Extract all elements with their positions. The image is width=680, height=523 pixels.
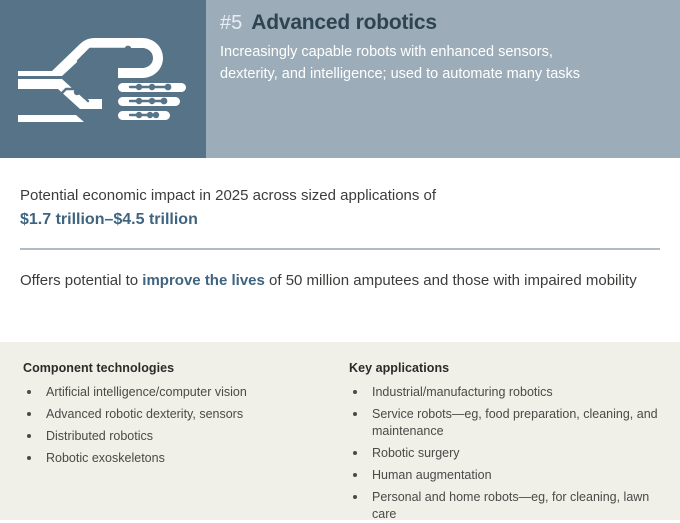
list-item: Artificial intelligence/computer vision	[23, 384, 332, 401]
key-applications-column: Key applications Industrial/manufacturin…	[340, 342, 680, 520]
bullet-icon	[353, 495, 357, 499]
list-item-label: Advanced robotic dexterity, sensors	[46, 407, 243, 421]
header-text-block: #5 Advanced robotics Increasingly capabl…	[206, 0, 680, 158]
list-item: Robotic surgery	[349, 445, 662, 462]
list-item: Advanced robotic dexterity, sensors	[23, 406, 332, 423]
rank-number: #5	[220, 12, 242, 35]
bullet-icon	[27, 412, 31, 416]
bullet-icon	[353, 451, 357, 455]
header-description: Increasingly capable robots with enhance…	[220, 42, 580, 85]
component-technologies-heading: Component technologies	[23, 361, 332, 375]
card-header: #5 Advanced robotics Increasingly capabl…	[0, 0, 680, 158]
impact-value-text: $1.7 trillion–$4.5 trillion	[20, 209, 198, 231]
list-item-label: Robotic exoskeletons	[46, 451, 165, 465]
list-item: Human augmentation	[349, 467, 662, 484]
list-item-label: Distributed robotics	[46, 429, 153, 443]
benefit-highlight: improve the lives	[142, 272, 265, 289]
list-item: Industrial/manufacturing robotics	[349, 384, 662, 401]
robotic-hand-circuit-icon	[18, 31, 188, 127]
bullet-icon	[27, 456, 31, 460]
benefit-suffix: of 50 million amputees and those with im…	[265, 272, 637, 289]
icon-panel	[0, 0, 206, 158]
list-item-label: Service robots—eg, food preparation, cle…	[372, 407, 658, 438]
benefit-prefix: Offers potential to	[20, 272, 142, 289]
bullet-icon	[353, 390, 357, 394]
bullet-icon	[27, 390, 31, 394]
title-row: #5 Advanced robotics	[220, 11, 660, 35]
section-divider	[20, 248, 660, 250]
page-title: Advanced robotics	[251, 11, 437, 35]
list-item: Personal and home robots—eg, for cleanin…	[349, 489, 662, 523]
list-item: Robotic exoskeletons	[23, 450, 332, 467]
list-item-label: Artificial intelligence/computer vision	[46, 385, 247, 399]
list-item: Distributed robotics	[23, 428, 332, 445]
bullet-icon	[353, 412, 357, 416]
technology-profile-card: #5 Advanced robotics Increasingly capabl…	[0, 0, 680, 520]
key-applications-heading: Key applications	[349, 361, 662, 375]
benefit-statement: Offers potential to improve the lives of…	[20, 269, 666, 292]
list-item-label: Robotic surgery	[372, 446, 460, 460]
impact-lead-text: Potential economic impact in 2025 across…	[20, 185, 436, 207]
list-item: Service robots—eg, food preparation, cle…	[349, 406, 662, 440]
bullet-icon	[353, 473, 357, 477]
economic-impact-section: Potential economic impact in 2025 across…	[0, 158, 680, 342]
bullet-icon	[27, 434, 31, 438]
key-applications-list: Industrial/manufacturing roboticsService…	[349, 384, 662, 523]
lists-panel: Component technologies Artificial intell…	[0, 342, 680, 520]
component-technologies-column: Component technologies Artificial intell…	[0, 342, 340, 520]
list-item-label: Industrial/manufacturing robotics	[372, 385, 553, 399]
list-item-label: Personal and home robots—eg, for cleanin…	[372, 490, 649, 521]
list-item-label: Human augmentation	[372, 468, 492, 482]
component-technologies-list: Artificial intelligence/computer visionA…	[23, 384, 332, 467]
